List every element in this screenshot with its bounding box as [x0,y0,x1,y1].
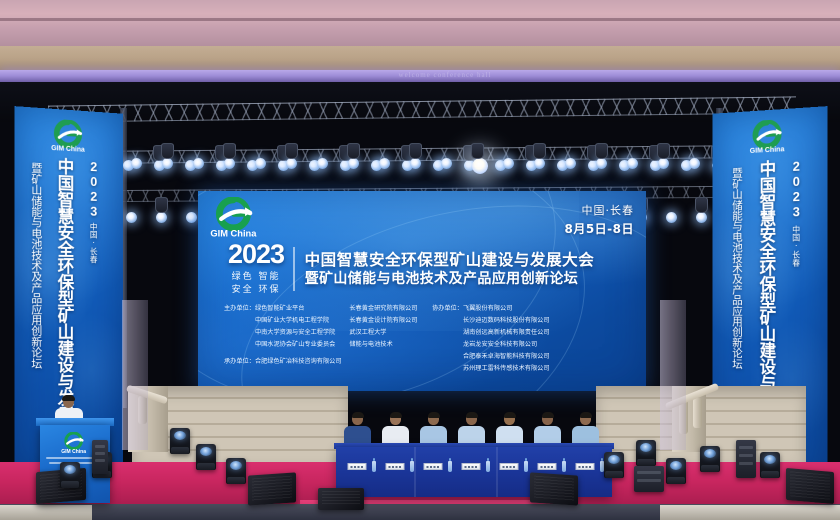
moving-head-light [196,444,216,470]
screen-slogan: 绿色 智能 安全 环保 [228,271,284,297]
screen-year-block: 2023 绿色 智能 安全 环保 [228,241,293,297]
screen-headline: 2023 绿色 智能 安全 环保 中国智慧安全环保型矿山建设与发展大会 暨矿山储… [228,241,594,297]
water-bottle [486,461,490,472]
moving-head-light [170,428,190,454]
podium-logo: GIM China [60,432,90,460]
stage-lamp [565,158,576,169]
equipment-case-center [634,466,664,492]
g-swoosh-icon: GIM China [207,197,265,241]
moving-head-light [604,452,624,478]
moving-head-light [666,458,686,484]
name-card [576,463,595,470]
banner-left-city: 中国·长春 [89,223,97,264]
host-item: 武汉工程大学 [349,327,417,339]
rack-slot [95,445,105,448]
rack-slot [637,479,661,482]
attendee-hair [580,412,592,418]
organizer-row: 承办单位： 合肥绿色矿冶科技咨询有限公司 [224,356,406,368]
screen-dates: 8月5日-8日 [564,220,634,238]
g-swoosh-icon: GIM China [747,119,792,157]
host-item: 中国水泥协会矿山专业委员会 [255,339,335,351]
light-fixture [471,143,484,159]
rack-slot [637,471,661,474]
organizer-value: 合肥绿色矿冶科技咨询有限公司 [255,356,342,368]
headline-divider [293,247,295,291]
drape-seam-1 [414,447,416,497]
stage-lamp [441,158,452,169]
name-card [500,463,519,470]
floor-monitor-4 [786,468,834,504]
organizers-cohost-group: 协办单位： 飞翼股份有限公司长沙迪迈数码科技股份有限公司湖南创远高新机械有限责任… [432,303,558,376]
stage-lamp [286,158,297,169]
name-card [348,463,367,470]
stage-lamp [317,158,328,169]
light-fixture [347,143,360,159]
name-card-text [465,466,478,468]
light-lens [608,455,620,464]
name-card-text [389,466,402,468]
moving-head-light [636,440,656,466]
screen-year: 2023 [228,241,284,268]
floor-monitor-3 [530,472,578,505]
host-item: 绿色智能矿业平台 [255,303,335,315]
light-base [61,481,79,488]
name-card-text [541,466,554,468]
cohost-item: 湖南创远高新机械有限责任公司 [463,327,550,339]
attendee-hair [466,412,478,418]
attendee-hair [428,412,440,418]
host-item: 中国矿业大学机电工程学院 [255,315,335,327]
screen-city: 中国·长春 [564,203,634,220]
stage-lamp [379,158,390,169]
light-lens [64,465,76,474]
screen-slogan-line-2: 安全 环保 [228,284,284,297]
screen-city-date: 中国·长春 8月5日-8日 [564,203,634,238]
host-item: 储能与电池技术 [349,339,417,351]
water-bottle [410,461,414,472]
cohost-item: 龙岩龙安安全科技有限公司 [463,339,550,351]
cohost-item: 飞翼股份有限公司 [463,303,550,315]
name-card [538,463,557,470]
rack-slot [739,446,753,449]
amp-rack-left [92,440,108,474]
moving-head-light [760,452,780,478]
banner-right-year: 2023 [790,158,803,219]
light-base [605,471,623,478]
stage-lamp [689,158,700,169]
drape-seam-2 [496,447,498,497]
cohost-item: 合肥泰禾卓海智能科技有限公司 [463,351,550,363]
rack-slot [739,454,753,457]
floor-plate-right [660,505,840,520]
attendee-hair [504,412,516,418]
light-lens [200,447,212,456]
light-base [667,477,685,484]
svg-text:GIM China: GIM China [210,228,257,238]
svg-text:GIM China: GIM China [61,449,86,455]
g-swoosh-icon: GIM China [48,119,91,156]
light-base [761,471,779,478]
stage-lamp [472,158,488,174]
monitor-grille [534,476,574,502]
name-card-text [351,466,364,468]
light-fixture [409,143,422,159]
host-row: 主办单位： 绿色智能矿业平台中国矿业大学机电工程学院中南大学资源与安全工程学院中… [224,303,406,351]
baluster-right-2 [693,398,702,428]
host-list-col-2: 长春黄金研究院有限公司长春黄金设计院有限公司武汉工程大学储能与电池技术 [349,303,417,351]
stage-lamp [658,158,669,169]
light-fixture [695,197,708,213]
floor-monitor-2 [248,472,296,505]
light-fixture [657,143,670,159]
monitor-grille [252,476,292,502]
cohost-list: 飞翼股份有限公司长沙迪迈数码科技股份有限公司湖南创远高新机械有限责任公司龙岩龙安… [463,303,550,376]
light-fixture [285,143,298,159]
stage-lamp [596,158,607,169]
host-item: 长春黄金研究院有限公司 [349,303,417,315]
light-base [227,477,245,484]
cornice-band [0,46,840,70]
stage-lamp [162,158,173,169]
rack-slot [739,462,753,465]
name-card-text [503,466,516,468]
stage-lamp [410,158,421,169]
water-bottle [524,461,528,472]
light-lens [230,461,242,470]
light-lens [174,431,186,440]
organizers-host-group: 主办单位： 绿色智能矿业平台中国矿业大学机电工程学院中南大学资源与安全工程学院中… [224,303,406,376]
light-base [637,459,655,466]
screen-slogan-line-1: 绿色 智能 [228,271,284,284]
speaker-hair [62,395,75,401]
name-card [424,463,443,470]
name-card-text [427,466,440,468]
screen-organizers: 主办单位： 绿色智能矿业平台中国矿业大学机电工程学院中南大学资源与安全工程学院中… [224,303,632,376]
light-lens [764,455,776,464]
cohost-item: 苏州理工雷科传感技术有限公司 [463,363,550,375]
moving-head-light [60,462,80,488]
light-fixture [155,197,168,213]
light-fixture [533,143,546,159]
moving-head-light [226,458,246,484]
light-lens [670,461,682,470]
stage-lamp [255,158,266,169]
attendee-hair [352,412,364,418]
side-drape-right [660,300,686,450]
stage-lamp [186,212,197,223]
cohost-item: 长沙迪迈数码科技股份有限公司 [463,315,550,327]
svg-text:GIM China: GIM China [750,146,785,155]
water-bottle [448,461,452,472]
stage-wedge-center [318,488,364,510]
stage-lamp [666,212,677,223]
banner-left-logo: GIM China [48,119,91,160]
amp-rack-right [736,440,756,478]
light-base [197,463,215,470]
host-item: 长春黄金设计院有限公司 [349,315,417,327]
stage-lamp [131,158,142,169]
banner-left-year: 2023 [87,159,100,219]
stage-lamp [224,158,235,169]
banner-left-title-sub: 暨矿山储能与电池技术及产品应用创新论坛 [31,162,42,368]
stage-lamp [534,158,545,169]
cohost-row: 协办单位： 飞翼股份有限公司长沙迪迈数码科技股份有限公司湖南创远高新机械有限责任… [432,303,558,376]
monitor-grille [790,471,830,499]
stage-lamp [696,212,707,223]
stage-scene: welcome conference hall GIM China 中国智慧安全… [0,0,840,520]
screen-title-sub: 暨矿山储能与电池技术及产品应用创新论坛 [305,270,595,288]
stage-lamp [193,158,204,169]
banner-right-title-sub: 暨矿山储能与电池技术及产品应用创新论坛 [732,167,743,368]
rack-slot [95,459,105,462]
stage-lamp [627,158,638,169]
stage-lamp [126,212,137,223]
moving-head-light [700,446,720,472]
screen-title-main: 中国智慧安全环保型矿山建设与发展大会 [305,250,595,270]
rack-slot [95,452,105,455]
light-fixture [223,143,236,159]
stage-lamp [348,158,359,169]
light-fixture [161,143,174,159]
name-card [386,463,405,470]
banner-right-logo: GIM China [747,119,792,161]
organizer-label: 承办单位： [224,356,255,368]
side-drape-left [122,300,148,450]
ceiling-led-strip: welcome conference hall [0,70,840,82]
cohost-label: 协办单位： [432,303,463,376]
ceiling-seam [0,18,840,21]
floor-plate-left [0,505,92,520]
light-base [701,465,719,472]
light-fixture [595,143,608,159]
host-list-col-1: 绿色智能矿业平台中国矿业大学机电工程学院中南大学资源与安全工程学院中国水泥协会矿… [255,303,335,351]
host-label: 主办单位： [224,303,255,351]
light-lens [704,449,716,458]
monitor-grille [322,491,360,506]
main-led-screen: GIM China 中国·长春 8月5日-8日 2023 绿色 智能 安全 环保… [198,191,646,391]
host-item: 中南大学资源与安全工程学院 [255,327,335,339]
svg-text:GIM China: GIM China [51,145,85,154]
attendee-hair [542,412,554,418]
light-base [171,447,189,454]
attendee-hair [390,412,402,418]
banner-right-city: 中国·长春 [792,225,800,267]
name-card-text [579,466,592,468]
stage-lamp [503,158,514,169]
name-card [462,463,481,470]
water-bottle [562,461,566,472]
light-lens [640,443,652,452]
water-bottle [372,461,376,472]
g-swoosh-icon: GIM China [60,432,90,455]
ceiling-led-text: welcome conference hall [330,71,560,80]
stage-lamp [156,212,167,223]
ceiling [0,0,840,46]
screen-title-block: 中国智慧安全环保型矿山建设与发展大会 暨矿山储能与电池技术及产品应用创新论坛 [305,250,595,288]
